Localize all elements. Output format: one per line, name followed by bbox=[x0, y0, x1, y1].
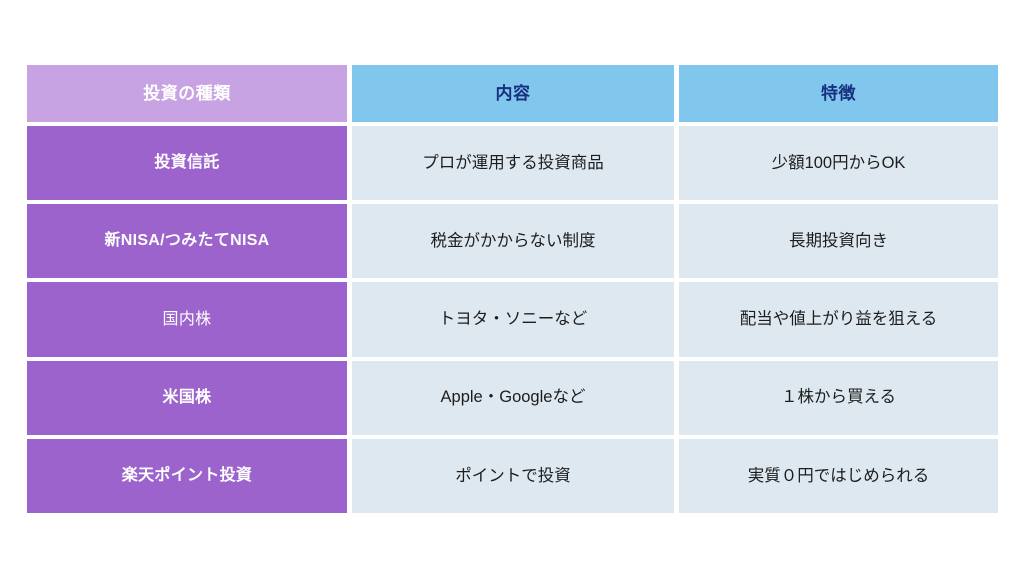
cell-investment-type: 国内株 bbox=[27, 282, 347, 356]
cell-investment-type: 新NISA/つみたてNISA bbox=[27, 204, 347, 278]
cell-content: ポイントで投資 bbox=[352, 439, 674, 513]
cell-content: Apple・Googleなど bbox=[352, 361, 674, 435]
cell-feature: 少額100円からOK bbox=[679, 126, 998, 200]
table-row: 米国株 Apple・Googleなど １株から買える bbox=[27, 361, 997, 435]
column-header-feature: 特徴 bbox=[679, 65, 998, 122]
column-header-content: 内容 bbox=[352, 65, 674, 122]
cell-content: プロが運用する投資商品 bbox=[352, 126, 674, 200]
column-header-investment-type: 投資の種類 bbox=[27, 65, 347, 122]
table-row: 新NISA/つみたてNISA 税金がかからない制度 長期投資向き bbox=[27, 204, 997, 278]
cell-feature: １株から買える bbox=[679, 361, 998, 435]
table-row: 国内株 トヨタ・ソニーなど 配当や値上がり益を狙える bbox=[27, 282, 997, 356]
table-row: 投資信託 プロが運用する投資商品 少額100円からOK bbox=[27, 126, 997, 200]
cell-investment-type: 投資信託 bbox=[27, 126, 347, 200]
cell-feature: 実質０円ではじめられる bbox=[679, 439, 998, 513]
table-row: 楽天ポイント投資 ポイントで投資 実質０円ではじめられる bbox=[27, 439, 997, 513]
cell-feature: 配当や値上がり益を狙える bbox=[679, 282, 998, 356]
cell-investment-type: 米国株 bbox=[27, 361, 347, 435]
investment-types-table: 投資の種類 内容 特徴 投資信託 プロが運用する投資商品 少額100円からOK … bbox=[27, 65, 997, 513]
comparison-table-wrapper: 投資の種類 内容 特徴 投資信託 プロが運用する投資商品 少額100円からOK … bbox=[27, 65, 997, 513]
cell-feature: 長期投資向き bbox=[679, 204, 998, 278]
cell-content: トヨタ・ソニーなど bbox=[352, 282, 674, 356]
cell-content: 税金がかからない制度 bbox=[352, 204, 674, 278]
cell-investment-type: 楽天ポイント投資 bbox=[27, 439, 347, 513]
table-header-row: 投資の種類 内容 特徴 bbox=[27, 65, 997, 122]
